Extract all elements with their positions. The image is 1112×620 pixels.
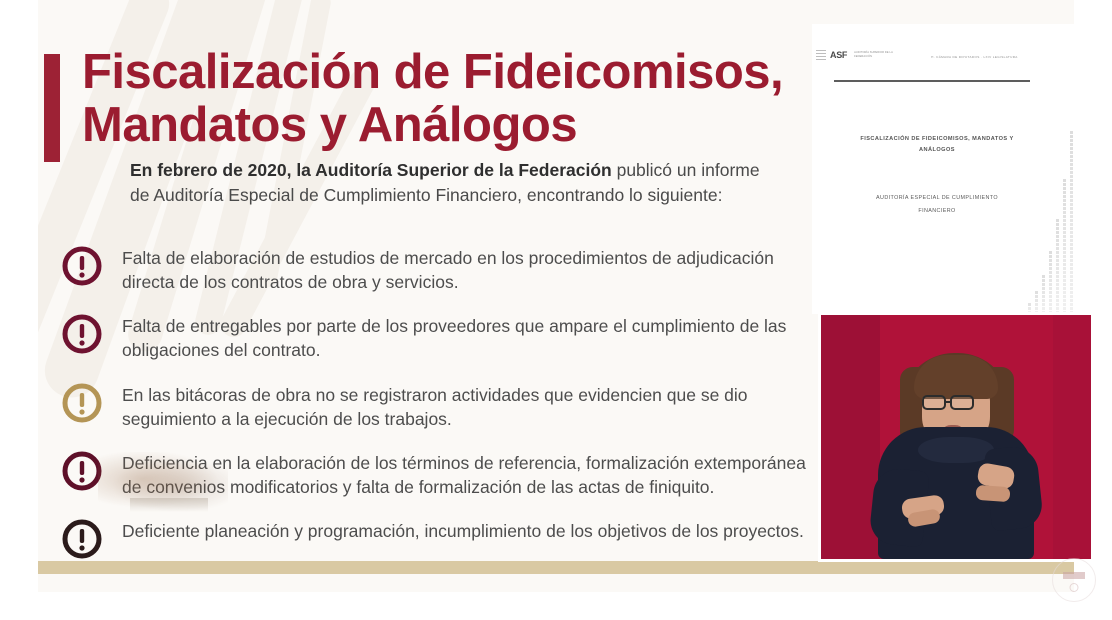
asf-logo: ASF AUDITORÍA SUPERIOR DE LA FEDERACIÓN … xyxy=(830,50,1018,60)
asf-logo-mark: ASF xyxy=(830,50,847,60)
list-item: En las bitácoras de obra no se registrar… xyxy=(60,377,860,431)
document-subtitle: AUDITORÍA ESPECIAL DE CUMPLIMIENTO FINAN… xyxy=(844,192,1030,218)
document-subtitle-line1: AUDITORÍA ESPECIAL DE CUMPLIMIENTO xyxy=(844,192,1030,205)
exclamation-circle-icon xyxy=(60,449,104,493)
findings-list: Falta de elaboración de estudios de merc… xyxy=(60,240,860,575)
asf-logo-subtitle: AUDITORÍA SUPERIOR DE LA FEDERACIÓN xyxy=(854,51,906,59)
list-item: Deficiencia en la elaboración de los tér… xyxy=(60,445,860,499)
page-title: Fiscalización de Fideicomisos, Mandatos … xyxy=(82,46,783,152)
document-title: FISCALIZACIÓN DE FIDEICOMISOS, MANDATOS … xyxy=(844,134,1030,155)
document-preview: ASF AUDITORÍA SUPERIOR DE LA FEDERACIÓN … xyxy=(812,24,1094,314)
intro-paragraph: En febrero de 2020, la Auditoría Superio… xyxy=(130,158,780,208)
list-item-text: Deficiente planeación y programación, in… xyxy=(122,513,804,543)
list-item-text: Deficiencia en la elaboración de los tér… xyxy=(122,445,812,499)
exclamation-circle-icon xyxy=(60,244,104,288)
slide-stage: Fiscalización de Fideicomisos, Mandatos … xyxy=(0,0,1112,620)
exclamation-circle-icon xyxy=(60,312,104,356)
exclamation-circle-icon xyxy=(60,381,104,425)
title-accent-bar xyxy=(44,54,60,162)
document-divider xyxy=(834,80,1030,82)
dotted-staircase-graphic xyxy=(1028,162,1080,314)
glasses-icon xyxy=(950,395,974,410)
list-item-text: Falta de elaboración de estudios de merc… xyxy=(122,240,812,294)
footer-accent-bar xyxy=(38,561,1074,574)
slide-title-block: Fiscalización de Fideicomisos, Mandatos … xyxy=(44,46,783,162)
list-item: Deficiente planeación y programación, in… xyxy=(60,513,860,561)
barcode-icon xyxy=(816,50,826,62)
interpreter-figure xyxy=(872,341,1040,559)
document-subtitle-line2: FINANCIERO xyxy=(844,205,1030,218)
glasses-icon xyxy=(922,395,946,410)
list-item: Falta de entregables por parte de los pr… xyxy=(60,308,860,362)
video-surface xyxy=(821,315,1091,559)
list-item: Falta de elaboración de estudios de merc… xyxy=(60,240,860,294)
intro-bold-text: En febrero de 2020, la Auditoría Superio… xyxy=(130,160,612,180)
sign-language-video[interactable] xyxy=(818,312,1094,562)
corner-seal-watermark xyxy=(1052,558,1096,602)
exclamation-circle-icon xyxy=(60,517,104,561)
list-item-text: Falta de entregables por parte de los pr… xyxy=(122,308,812,362)
asf-logo-right-text: H. CÁMARA DE DIPUTADOS · LXIV LEGISLATUR… xyxy=(931,55,1018,59)
list-item-text: En las bitácoras de obra no se registrar… xyxy=(122,377,812,431)
